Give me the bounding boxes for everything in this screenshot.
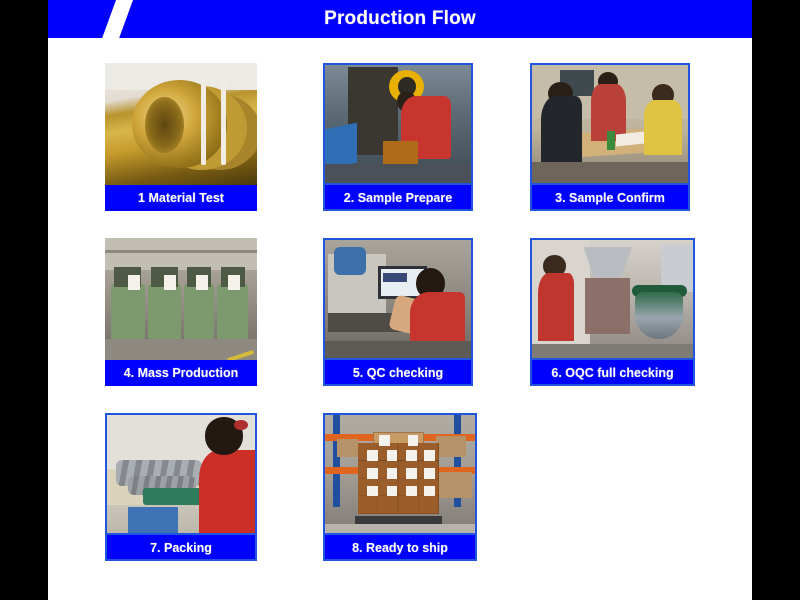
slide-canvas: Production Flow 1 Material Test 2. Sampl… [48, 0, 752, 600]
page-title: Production Flow [48, 0, 752, 38]
step-card-6[interactable]: 6. OQC full checking [530, 238, 695, 386]
step-photo-2 [323, 63, 473, 185]
step-caption-1: 1 Material Test [105, 185, 257, 211]
step-caption-8: 8. Ready to ship [323, 535, 477, 561]
step-card-5[interactable]: 5. QC checking [323, 238, 473, 386]
step-photo-4 [105, 238, 257, 360]
step-card-4[interactable]: 4. Mass Production [105, 238, 257, 386]
step-caption-2: 2. Sample Prepare [323, 185, 473, 211]
header-banner: Production Flow [48, 0, 752, 38]
step-photo-5 [323, 238, 473, 360]
step-card-3[interactable]: 3. Sample Confirm [530, 63, 690, 211]
step-photo-6 [530, 238, 695, 360]
step-card-7[interactable]: 7. Packing [105, 413, 257, 561]
step-card-1[interactable]: 1 Material Test [105, 63, 257, 211]
step-photo-8 [323, 413, 477, 535]
step-caption-5: 5. QC checking [323, 360, 473, 386]
step-caption-7: 7. Packing [105, 535, 257, 561]
step-caption-3: 3. Sample Confirm [530, 185, 690, 211]
step-caption-6: 6. OQC full checking [530, 360, 695, 386]
letterbox-right [752, 0, 800, 600]
step-card-2[interactable]: 2. Sample Prepare [323, 63, 473, 211]
step-photo-7 [105, 413, 257, 535]
step-caption-4: 4. Mass Production [105, 360, 257, 386]
letterbox-left [0, 0, 48, 600]
step-photo-3 [530, 63, 690, 185]
step-card-8[interactable]: 8. Ready to ship [323, 413, 477, 561]
step-photo-1 [105, 63, 257, 185]
